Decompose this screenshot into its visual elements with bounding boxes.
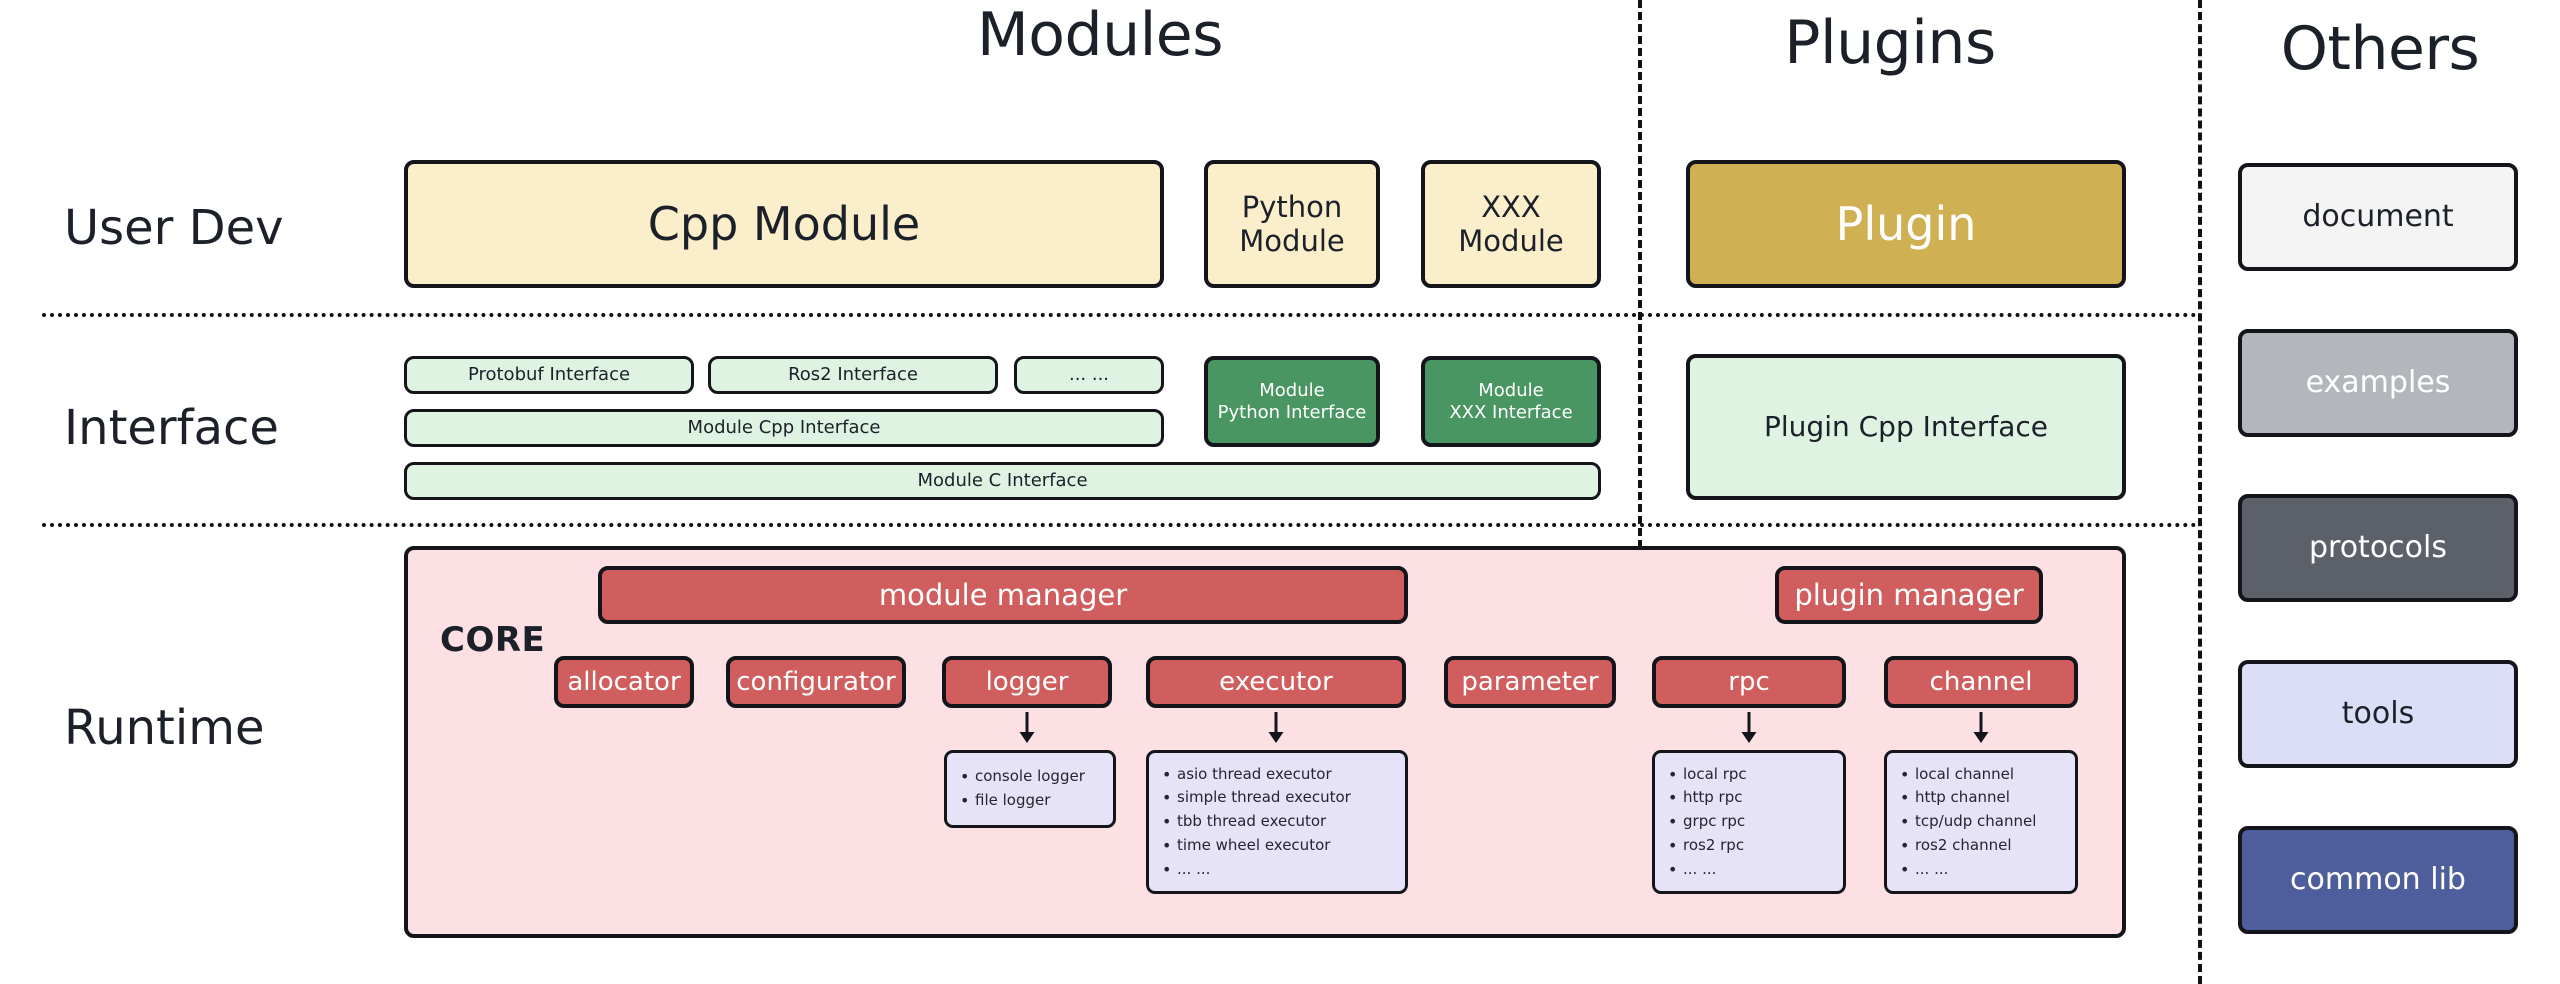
arrow-logger-down	[1016, 712, 1038, 744]
detail-logger-list: console logger file logger	[944, 750, 1116, 828]
box-module-manager[interactable]: module manager	[598, 566, 1408, 624]
box-xxx-module-label-line2: Module	[1458, 224, 1563, 258]
channel-item: http channel	[1915, 786, 2069, 810]
box-channel[interactable]: channel	[1884, 656, 2078, 708]
rpc-item: http rpc	[1683, 786, 1837, 810]
executor-items: asio thread executor simple thread execu…	[1159, 763, 1399, 881]
channel-item: local channel	[1915, 763, 2069, 787]
rpc-item: grpc rpc	[1683, 810, 1837, 834]
box-cpp-module[interactable]: Cpp Module	[404, 160, 1164, 288]
box-allocator[interactable]: allocator	[554, 656, 694, 708]
architecture-diagram: Modules Plugins Others User Dev Interfac…	[0, 0, 2560, 984]
executor-item: tbb thread executor	[1177, 810, 1399, 834]
box-plugin-cpp-interface[interactable]: Plugin Cpp Interface	[1686, 354, 2126, 500]
box-xxx-module[interactable]: XXX Module	[1421, 160, 1601, 288]
divider-modules-plugins	[1638, 0, 1642, 560]
arrow-executor-down	[1265, 712, 1287, 744]
rpc-item: local rpc	[1683, 763, 1837, 787]
box-rpc[interactable]: rpc	[1652, 656, 1846, 708]
channel-item: ros2 channel	[1915, 834, 2069, 858]
box-protocols[interactable]: protocols	[2238, 494, 2518, 602]
arrow-rpc-down	[1738, 712, 1760, 744]
box-python-module[interactable]: Python Module	[1204, 160, 1380, 288]
rpc-item: ... ...	[1683, 858, 1837, 882]
executor-item: simple thread executor	[1177, 786, 1399, 810]
box-plugin[interactable]: Plugin	[1686, 160, 2126, 288]
box-python-module-label-line2: Module	[1239, 224, 1344, 258]
detail-executor-list: asio thread executor simple thread execu…	[1146, 750, 1408, 894]
column-title-others: Others	[2210, 14, 2550, 84]
box-xxx-module-label-line1: XXX	[1481, 190, 1541, 224]
row-label-runtime: Runtime	[64, 700, 264, 756]
box-document[interactable]: document	[2238, 163, 2518, 271]
detail-rpc-list: local rpc http rpc grpc rpc ros2 rpc ...…	[1652, 750, 1846, 894]
logger-items: console logger file logger	[957, 765, 1107, 812]
rpc-items: local rpc http rpc grpc rpc ros2 rpc ...…	[1665, 763, 1837, 881]
detail-channel-list: local channel http channel tcp/udp chann…	[1884, 750, 2078, 894]
box-plugin-manager[interactable]: plugin manager	[1775, 566, 2043, 624]
divider-userdev-interface	[42, 313, 2198, 317]
box-examples[interactable]: examples	[2238, 329, 2518, 437]
executor-item: ... ...	[1177, 858, 1399, 882]
box-module-xxx-interface-line2: XXX Interface	[1449, 402, 1572, 423]
executor-item: time wheel executor	[1177, 834, 1399, 858]
channel-item: tcp/udp channel	[1915, 810, 2069, 834]
channel-items: local channel http channel tcp/udp chann…	[1897, 763, 2069, 881]
box-module-python-interface[interactable]: Module Python Interface	[1204, 356, 1380, 447]
box-ros2-interface[interactable]: Ros2 Interface	[708, 356, 998, 394]
executor-item: asio thread executor	[1177, 763, 1399, 787]
divider-plugins-others	[2198, 0, 2202, 984]
column-title-modules: Modules	[900, 0, 1300, 70]
box-configurator[interactable]: configurator	[726, 656, 906, 708]
box-module-cpp-interface[interactable]: Module Cpp Interface	[404, 409, 1164, 447]
box-common-lib[interactable]: common lib	[2238, 826, 2518, 934]
box-module-python-interface-line1: Module	[1259, 380, 1324, 401]
box-parameter[interactable]: parameter	[1444, 656, 1616, 708]
box-module-xxx-interface-line1: Module	[1478, 380, 1543, 401]
rpc-item: ros2 rpc	[1683, 834, 1837, 858]
box-module-python-interface-line2: Python Interface	[1218, 402, 1367, 423]
core-label: CORE	[440, 620, 545, 660]
divider-interface-runtime	[42, 523, 2198, 527]
box-ellipsis-interface[interactable]: ... ...	[1014, 356, 1164, 394]
box-module-c-interface[interactable]: Module C Interface	[404, 462, 1601, 500]
channel-item: ... ...	[1915, 858, 2069, 882]
logger-item: file logger	[975, 789, 1107, 813]
box-protobuf-interface[interactable]: Protobuf Interface	[404, 356, 694, 394]
box-executor[interactable]: executor	[1146, 656, 1406, 708]
row-label-interface: Interface	[64, 400, 279, 456]
logger-item: console logger	[975, 765, 1107, 789]
arrow-channel-down	[1970, 712, 1992, 744]
box-logger[interactable]: logger	[942, 656, 1112, 708]
column-title-plugins: Plugins	[1660, 8, 2120, 78]
box-tools[interactable]: tools	[2238, 660, 2518, 768]
box-python-module-label-line1: Python	[1242, 190, 1343, 224]
box-module-xxx-interface[interactable]: Module XXX Interface	[1421, 356, 1601, 447]
row-label-user-dev: User Dev	[64, 200, 284, 256]
